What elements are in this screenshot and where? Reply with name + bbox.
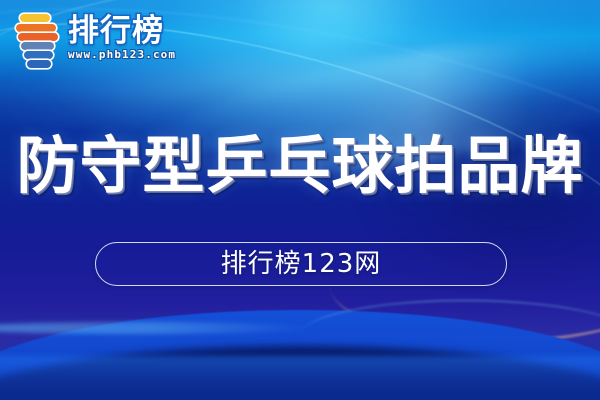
banner-title: 防守型乒乓球拍品牌 — [0, 135, 600, 197]
logo-bar-4 — [21, 42, 54, 50]
logo-bar-6 — [27, 60, 51, 68]
site-logo[interactable]: 排行榜 www.phb123.com — [14, 10, 190, 74]
subtitle-text: 排行榜123网 — [221, 251, 382, 277]
logo-wordmark-text: 排行榜 — [68, 16, 176, 47]
logo-bar-5 — [24, 51, 53, 59]
logo-bar-2 — [16, 24, 56, 32]
subtitle-pill: 排行榜123网 — [95, 242, 507, 286]
logo-url-text: www.phb123.com — [68, 48, 176, 61]
logo-bar-3 — [18, 33, 58, 41]
logo-wordmark: 排行榜 www.phb123.com — [68, 16, 176, 61]
bottom-bright-band — [0, 356, 600, 396]
logo-stack-icon — [14, 12, 66, 72]
logo-bar-1 — [20, 14, 50, 22]
banner-image: 排行榜 www.phb123.com 防守型乒乓球拍品牌 排行榜123网 — [0, 0, 600, 400]
